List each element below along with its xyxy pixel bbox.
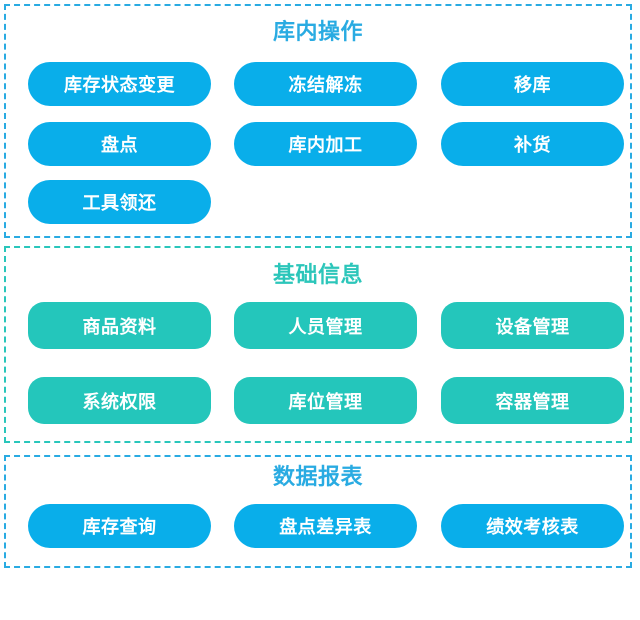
section-title-reports: 数据报表 [6, 467, 630, 489]
module-button-product-master-data[interactable]: 商品资料 [28, 302, 211, 349]
module-button-freeze-unfreeze[interactable]: 冻结解冻 [234, 62, 417, 106]
module-button-stock-transfer[interactable]: 移库 [441, 62, 624, 106]
module-button-system-permissions[interactable]: 系统权限 [28, 377, 211, 424]
section-title-basic-info: 基础信息 [6, 265, 630, 287]
section-basic-info: 基础信息 商品资料 人员管理 设备管理 系统权限 库位管理 容器管理 [4, 246, 632, 443]
wms-module-map: 库内操作 库存状态变更 冻结解冻 移库 盘点 库内加工 补货 工具领还 基础信息… [0, 0, 640, 620]
module-button-location-management[interactable]: 库位管理 [234, 377, 417, 424]
module-button-stocktaking-variance-report[interactable]: 盘点差异表 [234, 504, 417, 548]
section-inbound-ops: 库内操作 库存状态变更 冻结解冻 移库 盘点 库内加工 补货 工具领还 [4, 4, 632, 238]
module-button-performance-review-report[interactable]: 绩效考核表 [441, 504, 624, 548]
module-button-replenishment[interactable]: 补货 [441, 122, 624, 166]
module-button-tool-checkout-return[interactable]: 工具领还 [28, 180, 211, 224]
module-button-inventory-status-change[interactable]: 库存状态变更 [28, 62, 211, 106]
module-button-stocktaking[interactable]: 盘点 [28, 122, 211, 166]
module-button-inventory-query[interactable]: 库存查询 [28, 504, 211, 548]
module-button-container-management[interactable]: 容器管理 [441, 377, 624, 424]
section-reports: 数据报表 库存查询 盘点差异表 绩效考核表 [4, 455, 632, 568]
module-button-personnel-management[interactable]: 人员管理 [234, 302, 417, 349]
module-button-equipment-management[interactable]: 设备管理 [441, 302, 624, 349]
section-title-inbound-ops: 库内操作 [6, 22, 630, 44]
module-button-in-warehouse-processing[interactable]: 库内加工 [234, 122, 417, 166]
